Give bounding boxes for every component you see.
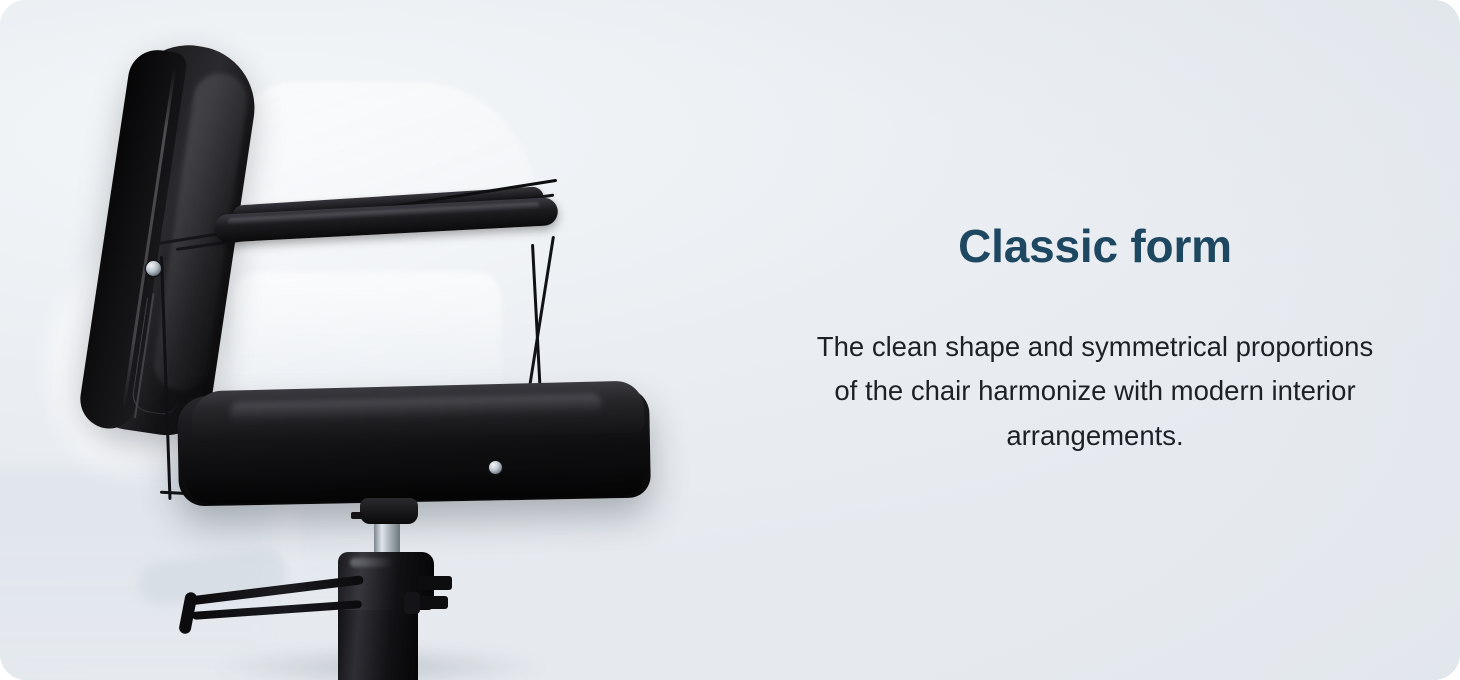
product-feature-banner: Classic form The clean shape and symmetr… <box>0 0 1460 680</box>
chair-lift-lever-upper <box>418 576 452 590</box>
product-image <box>0 0 730 680</box>
body-paragraph: The clean shape and symmetrical proporti… <box>802 325 1388 459</box>
chair-swivel-hub-tab <box>351 512 363 519</box>
chair-swivel-hub <box>360 498 418 524</box>
chair-lift-lever-lower <box>420 596 448 609</box>
chrome-bolt-seat-icon <box>489 461 502 474</box>
chair-pump-foot-bar-lower <box>192 600 362 620</box>
chrome-bolt-backrest-icon <box>146 261 161 276</box>
salon-chair <box>0 0 730 680</box>
chair-lift-knob <box>404 592 420 614</box>
copy-panel: Classic form The clean shape and symmetr… <box>730 0 1460 680</box>
page-title: Classic form <box>958 221 1232 273</box>
